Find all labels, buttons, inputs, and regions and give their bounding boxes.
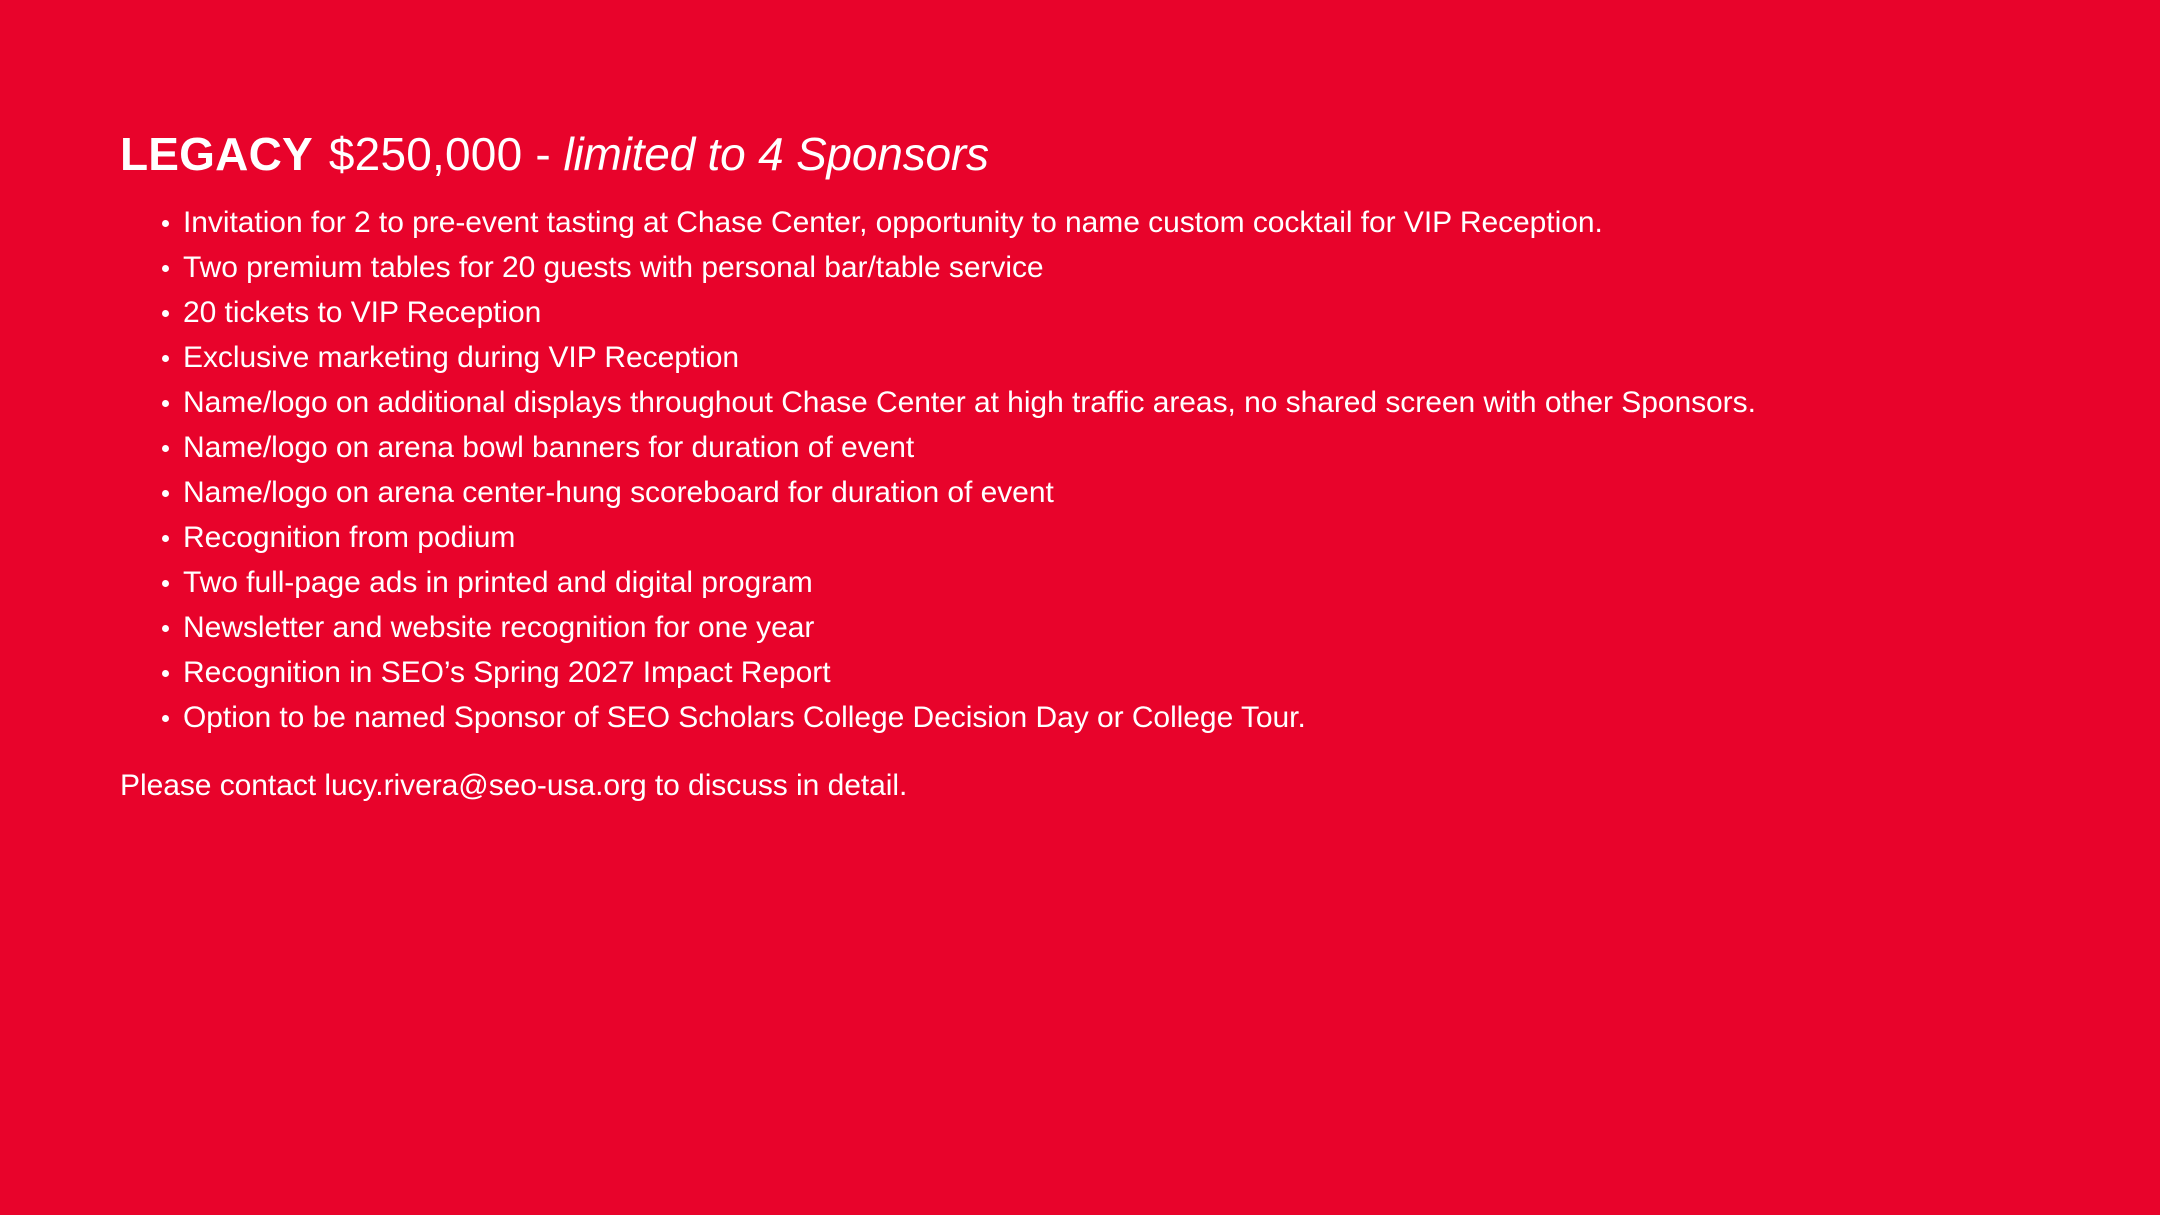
benefit-text: Recognition from podium <box>183 521 515 554</box>
bullet-icon <box>162 535 169 542</box>
list-item: Name/logo on additional displays through… <box>152 380 1756 425</box>
list-item: Recognition from podium <box>152 515 1756 560</box>
bullet-icon <box>162 445 169 452</box>
bullet-icon <box>162 400 169 407</box>
bullet-icon <box>162 580 169 587</box>
benefit-text: Name/logo on additional displays through… <box>183 386 1756 419</box>
benefit-text: Exclusive marketing during VIP Reception <box>183 341 739 374</box>
bullet-icon <box>162 625 169 632</box>
benefit-text: Newsletter and website recognition for o… <box>183 611 814 644</box>
bullet-icon <box>162 490 169 497</box>
benefit-text: Recognition in SEO’s Spring 2027 Impact … <box>183 656 831 689</box>
benefits-list: Invitation for 2 to pre-event tasting at… <box>152 200 1756 740</box>
benefit-text: Two premium tables for 20 guests with pe… <box>183 251 1044 284</box>
sponsorship-tier-slide: LEGACY$250,000 - limited to 4 Sponsors I… <box>0 0 2160 1215</box>
benefit-text: 20 tickets to VIP Reception <box>183 296 541 329</box>
list-item: Name/logo on arena center-hung scoreboar… <box>152 470 1756 515</box>
benefit-text: Name/logo on arena bowl banners for dura… <box>183 431 914 464</box>
bullet-icon <box>162 310 169 317</box>
tier-heading: LEGACY$250,000 - limited to 4 Sponsors <box>120 131 989 177</box>
contact-line: Please contact lucy.rivera@seo-usa.org t… <box>120 763 907 808</box>
benefit-text: Option to be named Sponsor of SEO Schola… <box>183 701 1306 734</box>
bullet-icon <box>162 670 169 677</box>
list-item: Recognition in SEO’s Spring 2027 Impact … <box>152 650 1756 695</box>
tier-amount: $250,000 - <box>329 128 551 180</box>
list-item: Exclusive marketing during VIP Reception <box>152 335 1756 380</box>
list-item: Invitation for 2 to pre-event tasting at… <box>152 200 1756 245</box>
tier-name: LEGACY <box>120 128 313 180</box>
benefit-text: Invitation for 2 to pre-event tasting at… <box>183 206 1603 239</box>
bullet-icon <box>162 715 169 722</box>
tier-limit: limited to 4 Sponsors <box>563 128 988 180</box>
list-item: Two premium tables for 20 guests with pe… <box>152 245 1756 290</box>
list-item: 20 tickets to VIP Reception <box>152 290 1756 335</box>
list-item: Newsletter and website recognition for o… <box>152 605 1756 650</box>
bullet-icon <box>162 265 169 272</box>
bullet-icon <box>162 355 169 362</box>
list-item: Name/logo on arena bowl banners for dura… <box>152 425 1756 470</box>
list-item: Option to be named Sponsor of SEO Schola… <box>152 695 1756 740</box>
list-item: Two full-page ads in printed and digital… <box>152 560 1756 605</box>
bullet-icon <box>162 220 169 227</box>
benefit-text: Two full-page ads in printed and digital… <box>183 566 813 599</box>
benefit-text: Name/logo on arena center-hung scoreboar… <box>183 476 1054 509</box>
